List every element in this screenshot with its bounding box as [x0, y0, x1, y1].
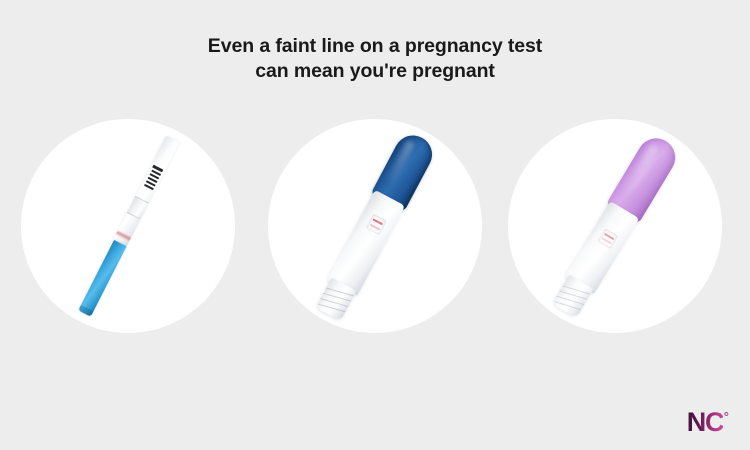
pregnancy-test-strip-1	[76, 135, 180, 317]
test-image-row	[0, 118, 750, 334]
strip-blue-handle	[77, 240, 125, 317]
page-title: Even a faint line on a pregnancy test ca…	[0, 34, 750, 84]
stick-body	[327, 190, 405, 296]
brand-logo: NC °	[687, 409, 729, 436]
brand-logo-text: NC	[687, 409, 724, 436]
infographic-canvas: Even a faint line on a pregnancy test ca…	[0, 0, 750, 450]
headline-line-2: can mean you're pregnant	[0, 59, 750, 84]
pregnancy-test-stick-3	[548, 131, 683, 320]
pregnancy-test-stick-2	[311, 129, 438, 323]
brand-degree-icon: °	[724, 410, 729, 423]
stick-result-window	[366, 214, 387, 235]
headline-line-1: Even a faint line on a pregnancy test	[0, 34, 750, 59]
test-photo-circle-1	[21, 119, 235, 333]
control-line	[372, 218, 383, 225]
faint-test-line	[370, 223, 381, 230]
test-photo-circle-3	[508, 119, 722, 333]
stick-result-window	[598, 228, 619, 249]
test-photo-circle-2	[268, 119, 482, 333]
